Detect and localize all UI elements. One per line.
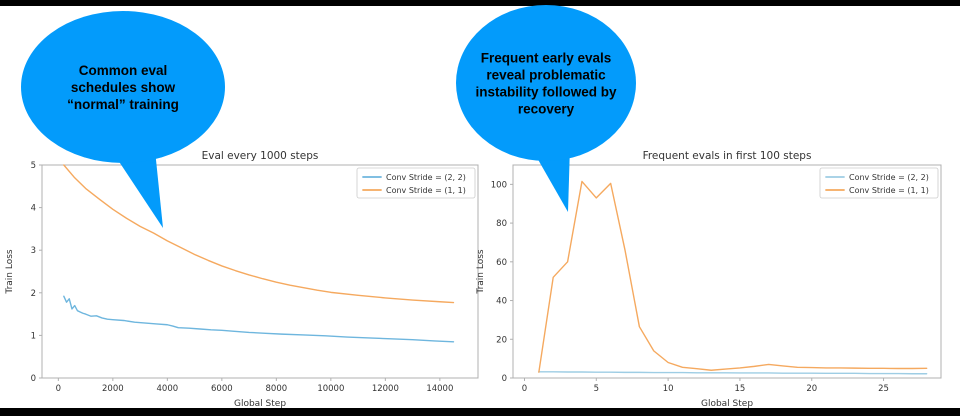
left-chart-xtick-label: 0 (56, 384, 61, 394)
right-chart-xtick-label: 20 (806, 384, 817, 394)
left-chart-legend-label-0: Conv Stride = (2, 2) (386, 173, 466, 182)
left-chart-ylabel: Train Loss (5, 249, 15, 295)
right-chart-xlabel: Global Step (701, 399, 753, 408)
right-chart-legend[interactable]: Conv Stride = (2, 2)Conv Stride = (1, 1) (820, 168, 938, 198)
left-chart-title: Eval every 1000 steps (202, 150, 319, 162)
left-chart-xtick-label: 8000 (266, 384, 288, 394)
right-chart-xtick-label: 25 (878, 384, 889, 394)
left-chart-legend[interactable]: Conv Stride = (2, 2)Conv Stride = (1, 1) (357, 168, 475, 198)
left-chart-legend-label-1: Conv Stride = (1, 1) (386, 186, 466, 195)
left-chart-ytick-label: 1 (31, 331, 36, 341)
left-chart-series-0 (64, 296, 454, 342)
left-chart-xtick-label: 4000 (157, 384, 179, 394)
right-chart-xtick-label: 10 (663, 384, 674, 394)
right-chart-xtick-label: 0 (522, 384, 527, 394)
right-chart-ytick-label: 0 (502, 374, 507, 384)
right-chart-series-0 (539, 372, 927, 374)
right-chart-legend-label-0: Conv Stride = (2, 2) (849, 173, 929, 182)
left-chart-panel[interactable]: Eval every 1000 steps0200040006000800010… (5, 150, 478, 408)
left-chart-ytick-label: 3 (31, 246, 36, 256)
left-chart-xtick-label: 6000 (211, 384, 233, 394)
right-chart-xtick-label: 5 (594, 384, 599, 394)
screenshot-canvas: Eval every 1000 steps0200040006000800010… (0, 0, 960, 416)
right-chart-ylabel: Train Loss (476, 249, 486, 295)
left-chart-ytick-label: 2 (31, 289, 36, 299)
left-chart-ytick-label: 0 (31, 374, 36, 384)
left-chart-ytick-label: 5 (31, 161, 36, 171)
left-chart-xtick-label: 2000 (102, 384, 124, 394)
charts-figure: Eval every 1000 steps0200040006000800010… (0, 6, 960, 408)
right-chart-ytick-label: 60 (496, 258, 507, 268)
right-chart-ytick-label: 20 (496, 335, 507, 345)
left-chart-xtick-label: 14000 (426, 384, 453, 394)
left-chart-xtick-label: 12000 (372, 384, 399, 394)
right-chart-xtick-label: 15 (735, 384, 746, 394)
right-chart-legend-label-1: Conv Stride = (1, 1) (849, 186, 929, 195)
left-chart-ytick-label: 4 (31, 204, 36, 214)
right-chart-ytick-label: 40 (496, 297, 507, 307)
right-chart-ytick-label: 80 (496, 219, 507, 229)
left-chart-xtick-label: 10000 (317, 384, 344, 394)
right-chart-ytick-label: 100 (491, 180, 507, 190)
right-chart-panel[interactable]: Frequent evals in first 100 steps0510152… (476, 150, 941, 408)
right-chart-title: Frequent evals in first 100 steps (643, 150, 812, 162)
left-chart-xlabel: Global Step (234, 399, 286, 408)
right-chart-series-1 (539, 181, 927, 372)
